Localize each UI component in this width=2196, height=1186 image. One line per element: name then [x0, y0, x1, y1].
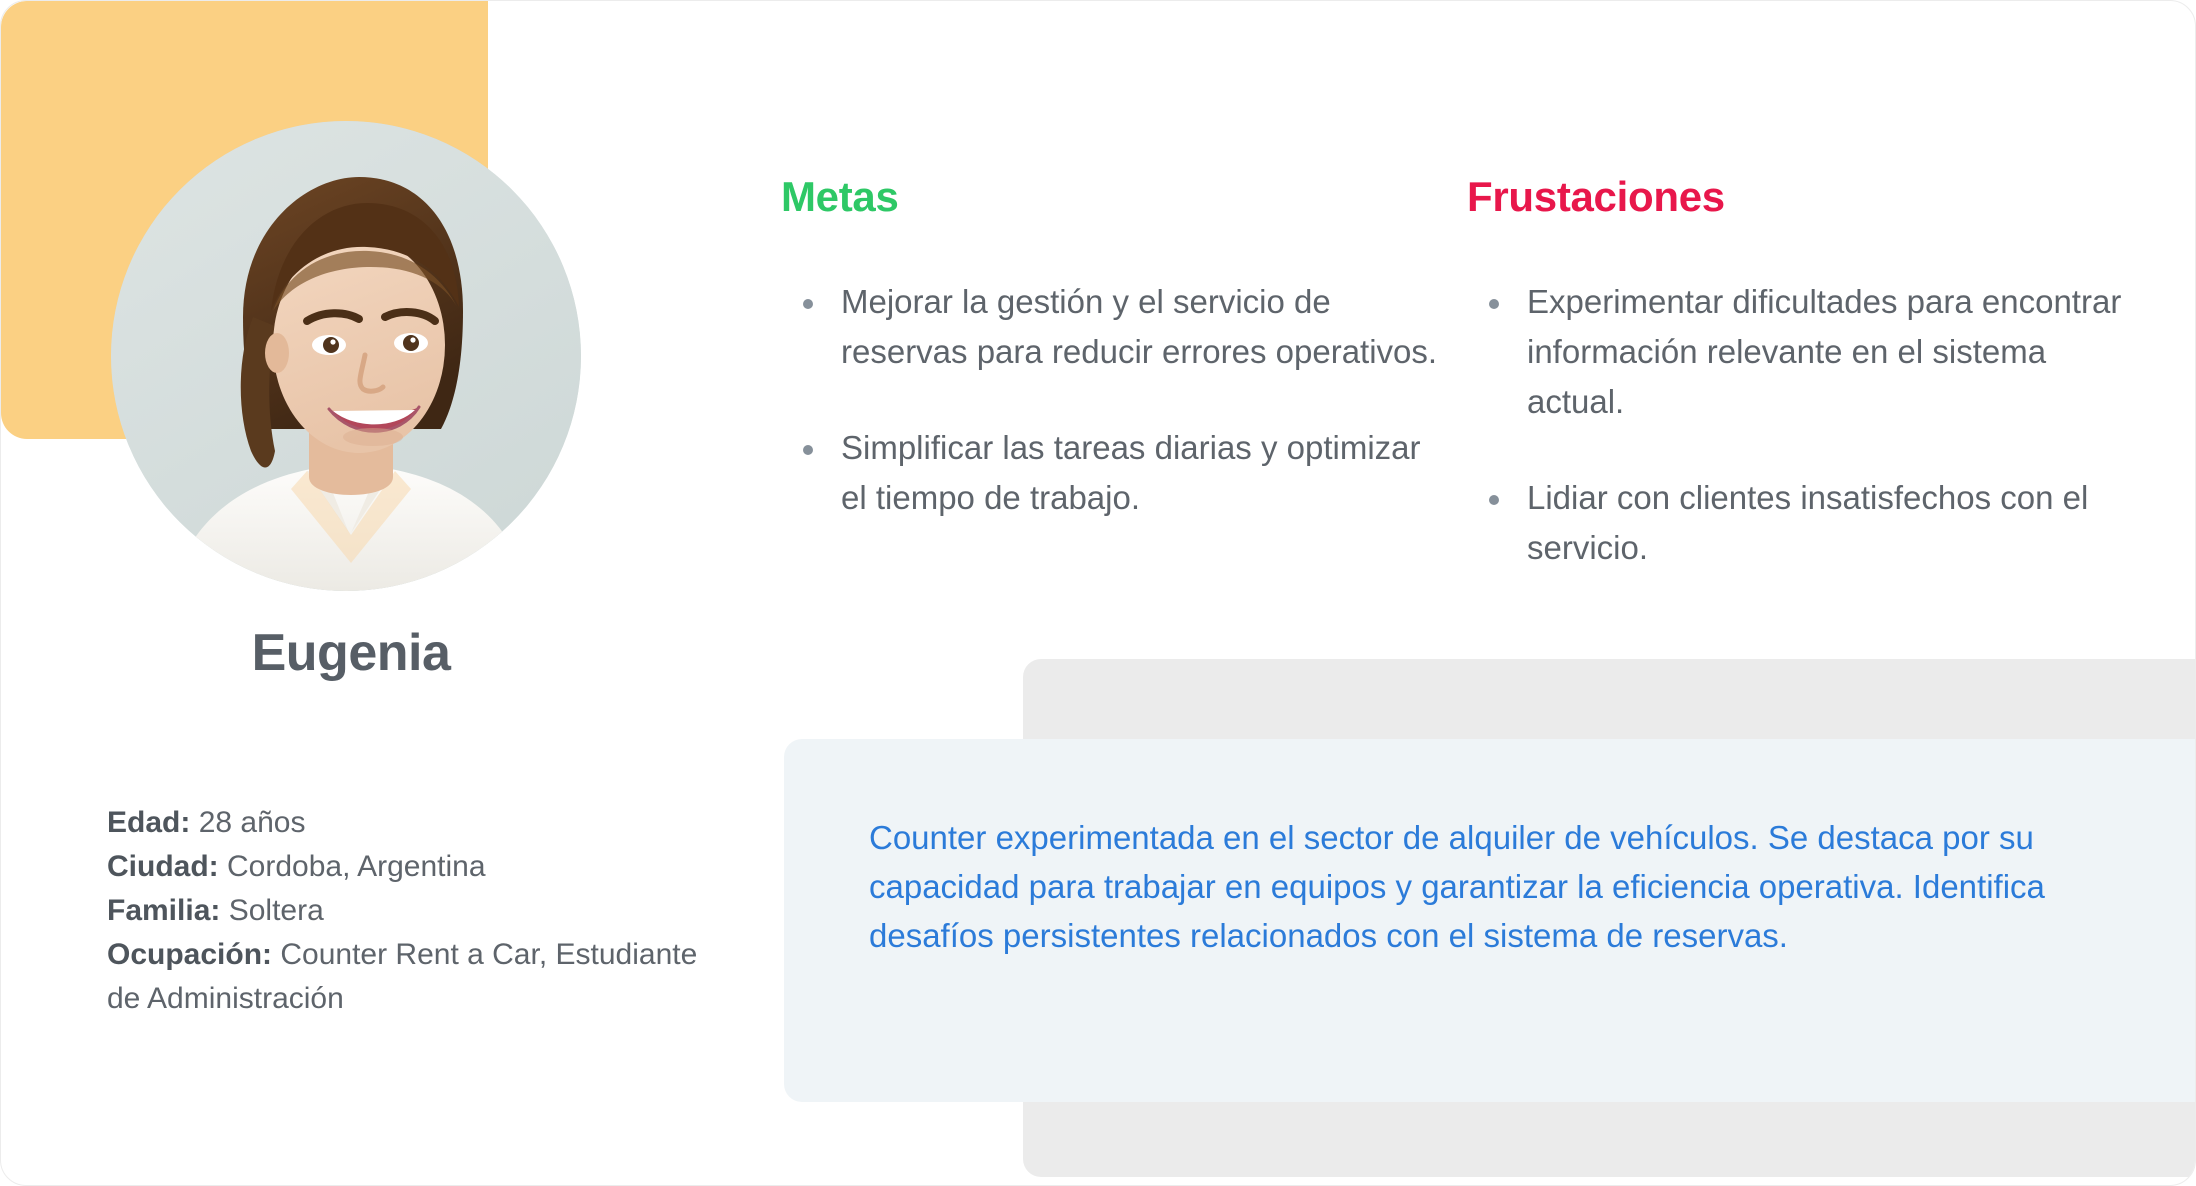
frustrations-section: Frustaciones Experimentar dificultades p…: [1467, 173, 2147, 573]
goals-list: Mejorar la gestión y el servicio de rese…: [781, 277, 1441, 523]
bullet-icon: [1489, 299, 1499, 309]
detail-row-ocupacion: Ocupación: Counter Rent a Car, Estudiant…: [107, 933, 707, 1021]
detail-label-ciudad: Ciudad:: [107, 850, 219, 883]
persona-name: Eugenia: [1, 623, 701, 683]
avatar: [111, 121, 581, 591]
bullet-icon: [803, 299, 813, 309]
persona-card: Eugenia Edad: 28 años Ciudad: Cordoba, A…: [0, 0, 2196, 1186]
list-item: Lidiar con clientes insatisfechos con el…: [1467, 473, 2147, 573]
list-item: Simplificar las tareas diarias y optimiz…: [781, 423, 1441, 523]
detail-row-familia: Familia: Soltera: [107, 889, 707, 933]
goals-title: Metas: [781, 173, 1441, 221]
bullet-icon: [1489, 495, 1499, 505]
frustration-text: Lidiar con clientes insatisfechos con el…: [1527, 479, 2088, 566]
frustrations-list: Experimentar dificultades para encontrar…: [1467, 277, 2147, 573]
detail-label-edad: Edad:: [107, 806, 190, 839]
detail-row-edad: Edad: 28 años: [107, 801, 707, 845]
list-item: Mejorar la gestión y el servicio de rese…: [781, 277, 1441, 377]
detail-value-edad: 28 años: [199, 806, 306, 839]
quote-panel: Counter experimentada en el sector de al…: [784, 739, 2196, 1102]
detail-row-ciudad: Ciudad: Cordoba, Argentina: [107, 845, 707, 889]
goal-text: Mejorar la gestión y el servicio de rese…: [841, 283, 1437, 370]
list-item: Experimentar dificultades para encontrar…: [1467, 277, 2147, 427]
detail-label-familia: Familia:: [107, 894, 220, 927]
frustration-text: Experimentar dificultades para encontrar…: [1527, 283, 2121, 420]
quote-text: Counter experimentada en el sector de al…: [869, 813, 2105, 960]
frustrations-title: Frustaciones: [1467, 173, 2147, 221]
persona-details: Edad: 28 años Ciudad: Cordoba, Argentina…: [107, 801, 707, 1021]
detail-label-ocupacion: Ocupación:: [107, 938, 272, 971]
bullet-icon: [803, 445, 813, 455]
detail-value-familia: Soltera: [229, 894, 324, 927]
detail-value-ciudad: Cordoba, Argentina: [227, 850, 486, 883]
goals-section: Metas Mejorar la gestión y el servicio d…: [781, 173, 1441, 523]
goal-text: Simplificar las tareas diarias y optimiz…: [841, 429, 1421, 516]
